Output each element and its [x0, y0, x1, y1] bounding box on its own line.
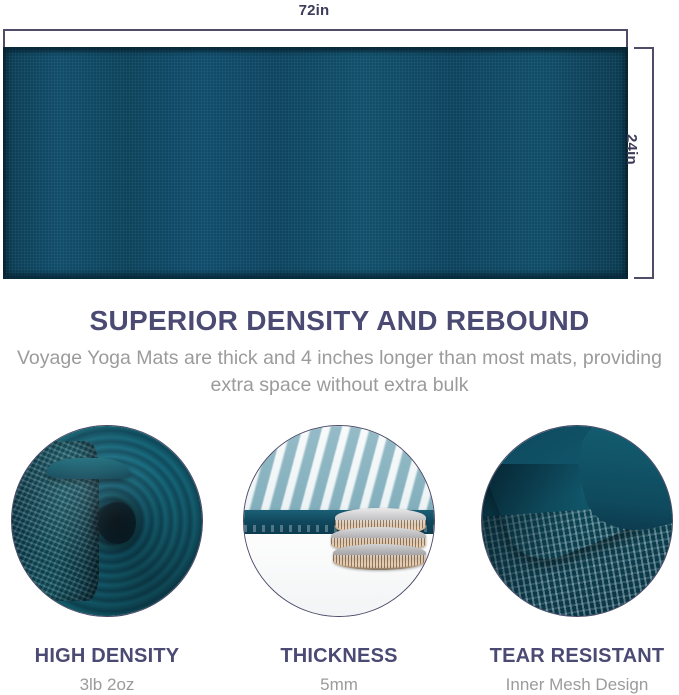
mat-mesh-photo	[481, 425, 673, 617]
height-dimension-label: 24in	[623, 134, 640, 165]
width-dimension-label: 72in	[0, 2, 628, 19]
feature-title: THICKNESS	[238, 645, 440, 668]
feature-thickness: THICKNESS 5mm	[238, 425, 440, 695]
feature-row: HIGH DENSITY 3lb 2oz THICKNESS 5mm	[0, 425, 679, 688]
feature-tear-resistant: TEAR RESISTANT Inner Mesh Design	[476, 425, 678, 695]
feature-title: TEAR RESISTANT	[476, 645, 678, 668]
width-dimension-bracket	[3, 29, 628, 47]
yoga-mat-product-image	[3, 47, 628, 279]
rolled-mat-photo	[11, 425, 203, 617]
coin-bottom	[333, 544, 426, 571]
feature-title: HIGH DENSITY	[6, 645, 208, 668]
feature-high-density: HIGH DENSITY 3lb 2oz	[6, 425, 208, 695]
page-subtitle: Voyage Yoga Mats are thick and 4 inches …	[10, 345, 669, 399]
feature-subtitle: 3lb 2oz	[6, 675, 208, 695]
mat-thickness-photo	[243, 425, 435, 617]
product-dimension-diagram: 72in 24in	[0, 0, 679, 292]
roll-shading	[12, 426, 202, 616]
page-title: SUPERIOR DENSITY AND REBOUND	[0, 305, 679, 337]
coin-ridge	[333, 555, 426, 568]
feature-subtitle: 5mm	[238, 675, 440, 695]
feature-subtitle: Inner Mesh Design	[476, 675, 678, 695]
mat-surface-background	[244, 426, 434, 517]
